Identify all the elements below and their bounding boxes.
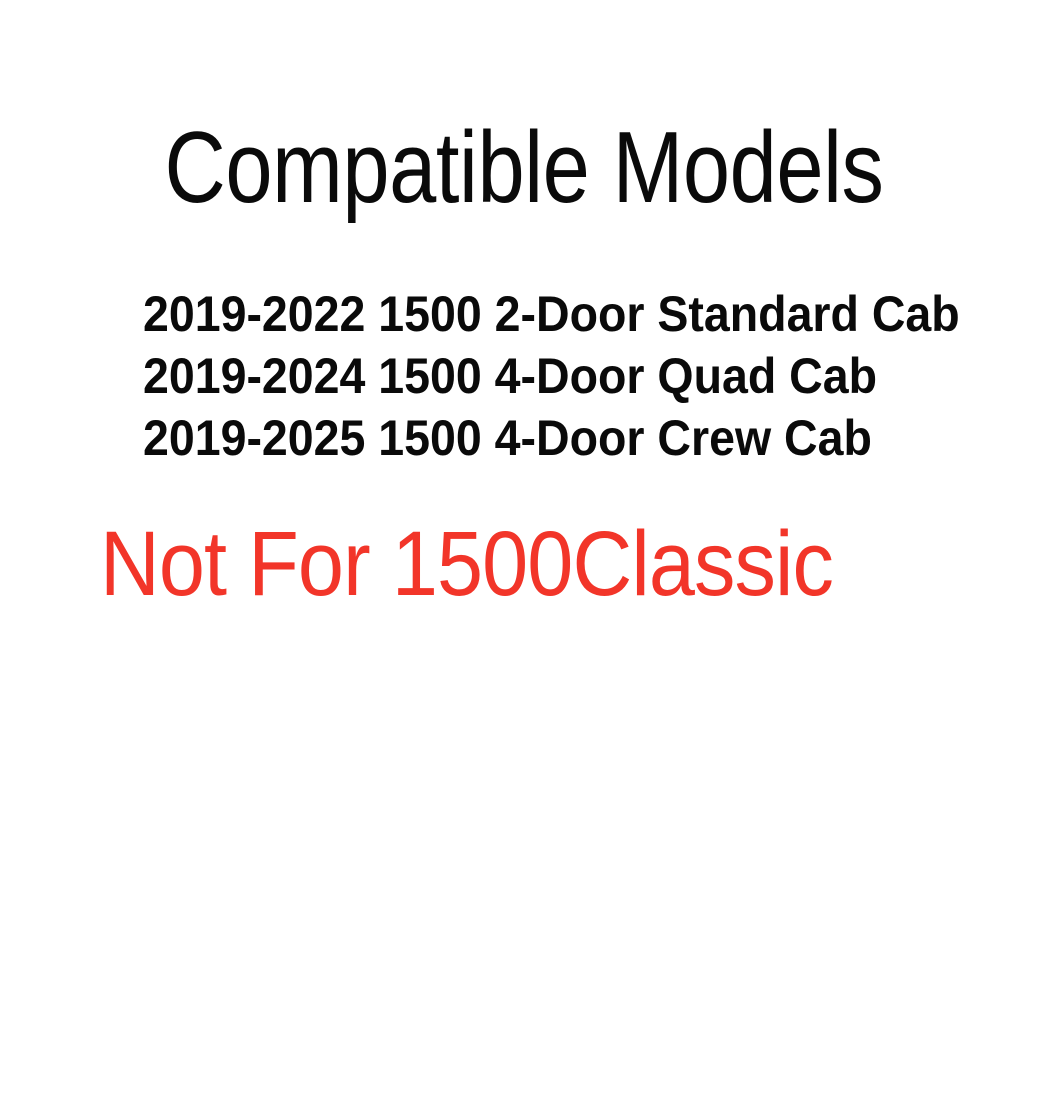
- list-item: 2019-2025 1500 4-Door Crew Cab: [143, 407, 961, 469]
- exclusion-notice-block: Not For 1500Classic: [100, 518, 1000, 610]
- list-item: 2019-2022 1500 2-Door Standard Cab: [143, 283, 961, 345]
- page-title-block: Compatible Models: [0, 118, 1049, 219]
- empty-lower-region: [0, 630, 1049, 1101]
- compatibility-graphic: Compatible Models 2019-2022 1500 2-Door …: [0, 0, 1049, 1101]
- page-title: Compatible Models: [165, 118, 884, 219]
- list-item: 2019-2024 1500 4-Door Quad Cab: [143, 345, 961, 407]
- compatible-models-list: 2019-2022 1500 2-Door Standard Cab 2019-…: [143, 283, 1023, 469]
- exclusion-notice-text: Not For 1500Classic: [100, 518, 910, 610]
